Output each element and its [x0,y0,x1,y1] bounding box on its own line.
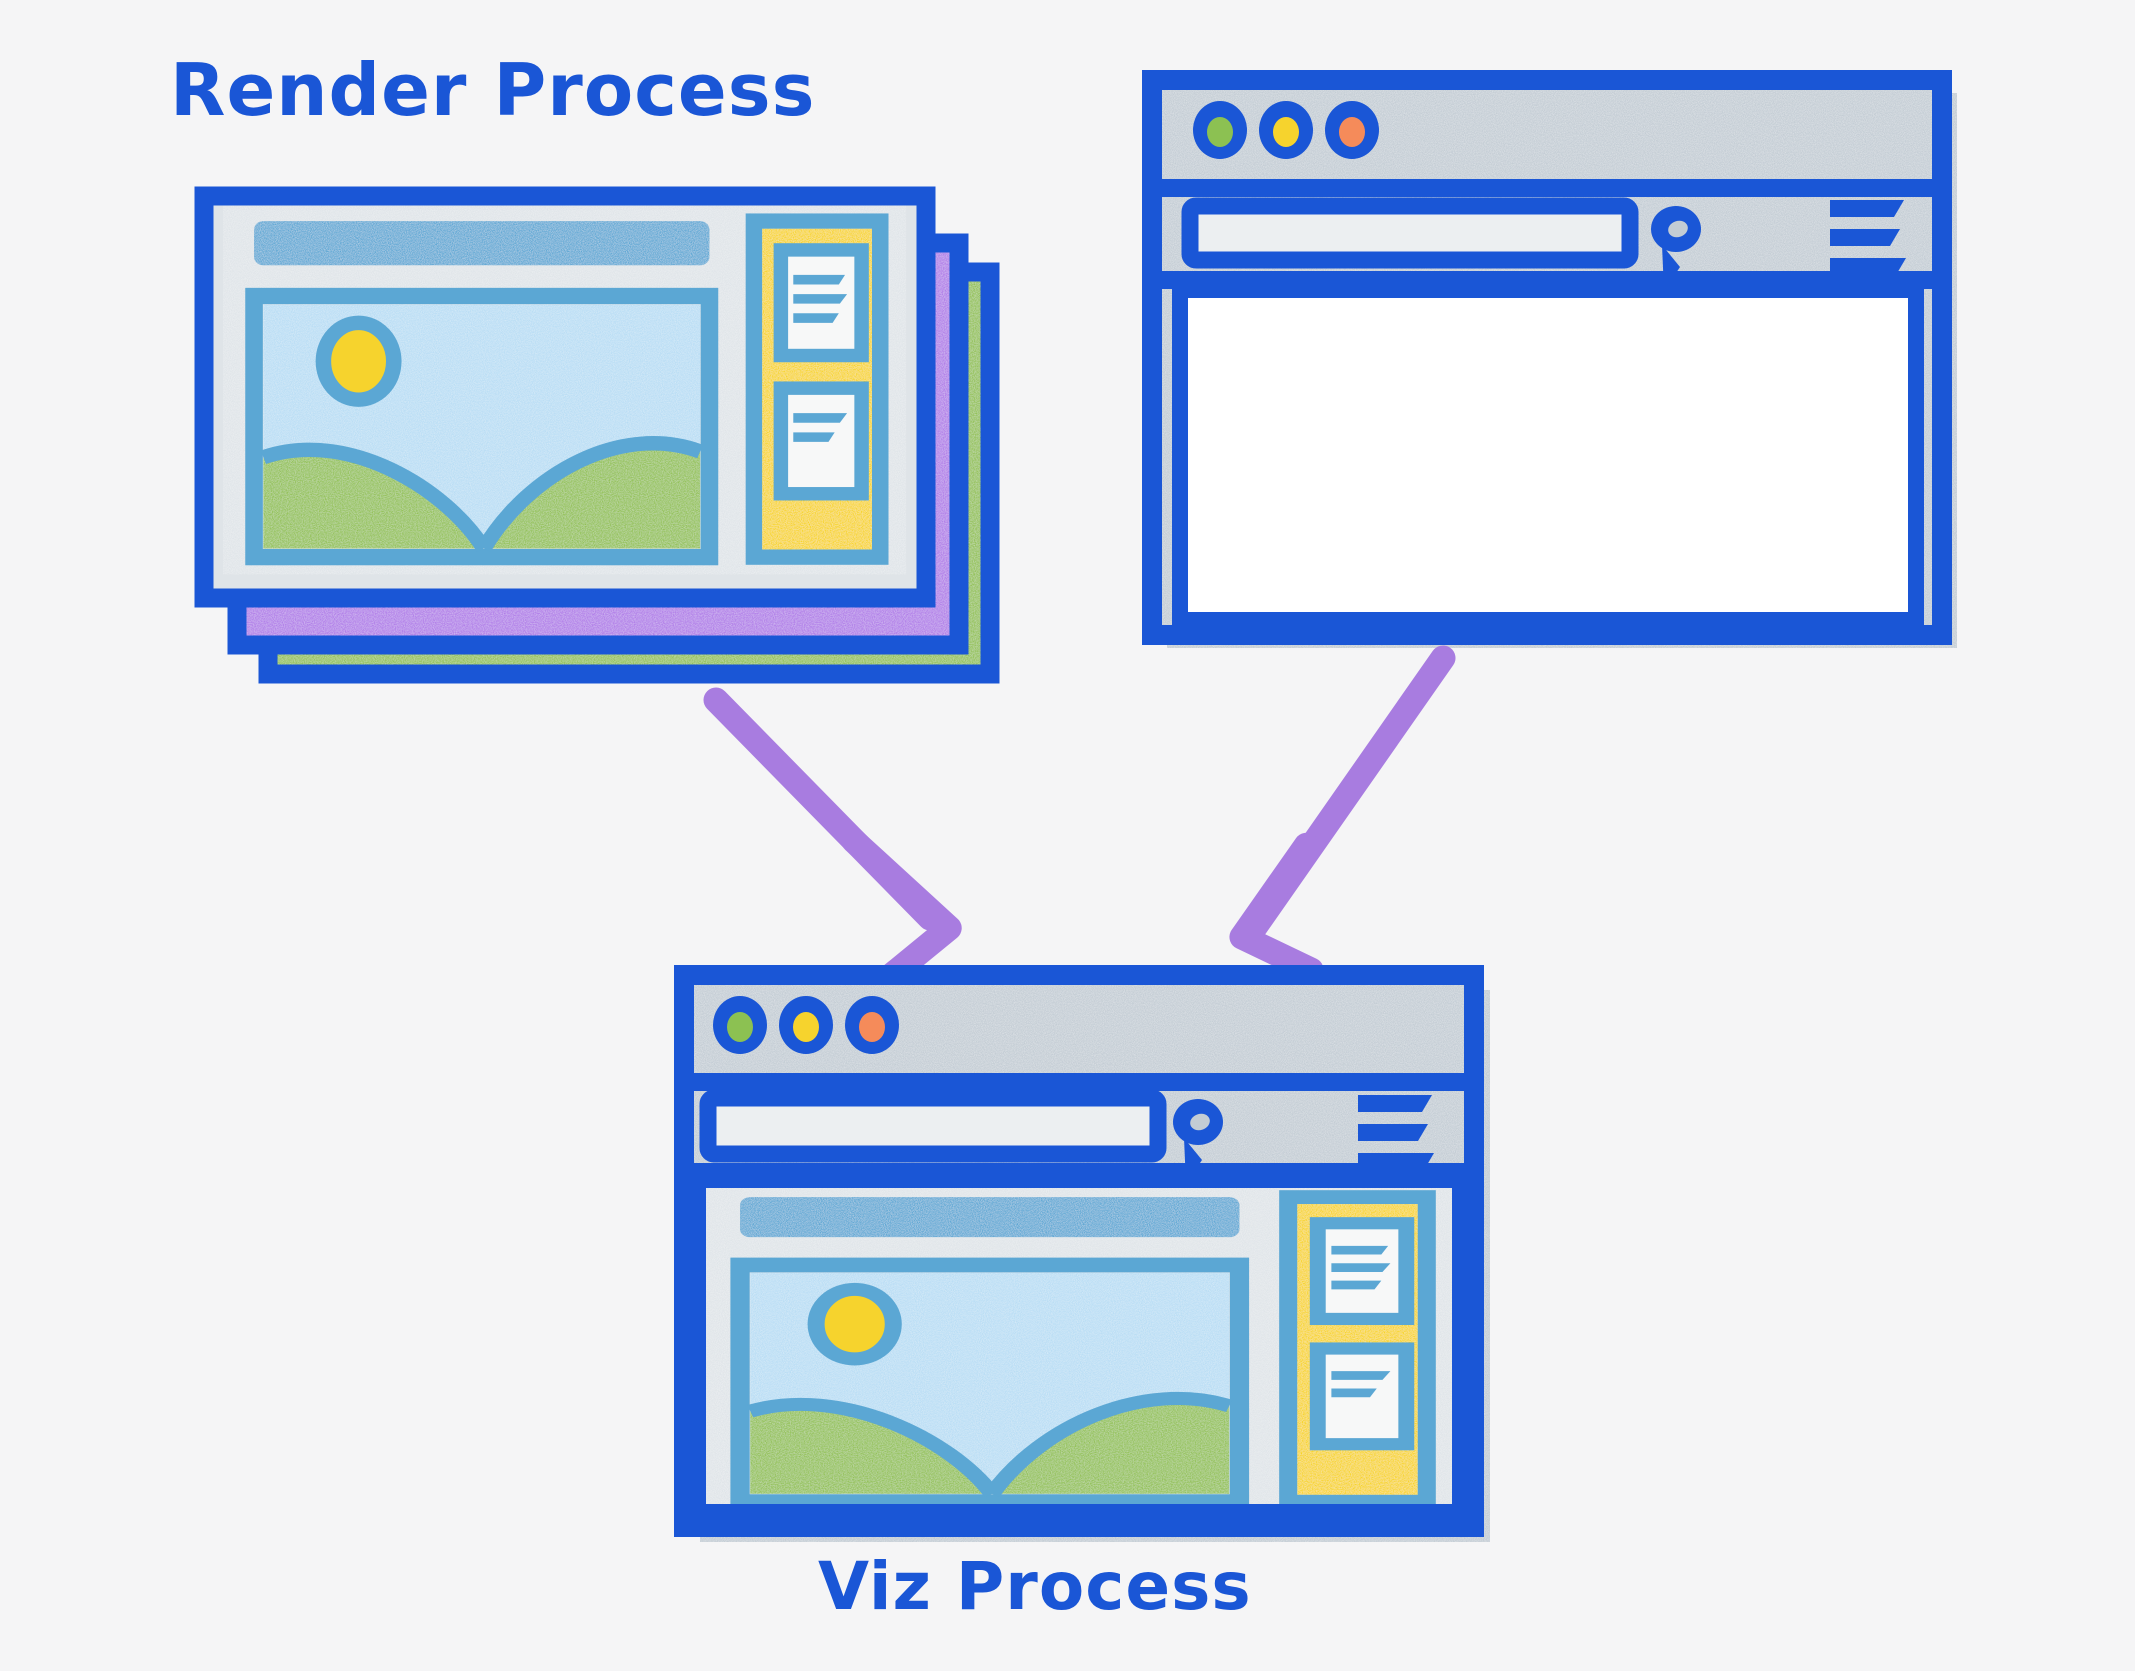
viz-hamburger-icon[interactable] [1358,1095,1434,1170]
browser-body [1180,290,1916,620]
browser-process-node[interactable] [1152,80,1957,648]
diagram-graphics [0,0,2135,1671]
viz-toolbar [690,1092,1468,1184]
viz-page-content [698,1178,1460,1517]
diagram-canvas: Render Process Browser Process Viz Proce… [0,0,2135,1671]
viz-process-node[interactable] [684,975,1490,1542]
browser-address-bar[interactable] [1190,206,1630,260]
browser-hamburger-icon[interactable] [1830,200,1906,275]
viz-traffic-lights[interactable] [713,996,899,1054]
viz-address-bar[interactable] [708,1098,1158,1154]
render-process-window[interactable] [204,196,926,598]
edge-browser-to-viz [1242,658,1443,978]
render-process-node[interactable] [204,196,990,674]
browser-titlebar [1158,94,1936,188]
browser-toolbar [1158,198,1936,291]
viz-titlebar [690,989,1468,1082]
browser-traffic-lights[interactable] [1193,101,1379,159]
